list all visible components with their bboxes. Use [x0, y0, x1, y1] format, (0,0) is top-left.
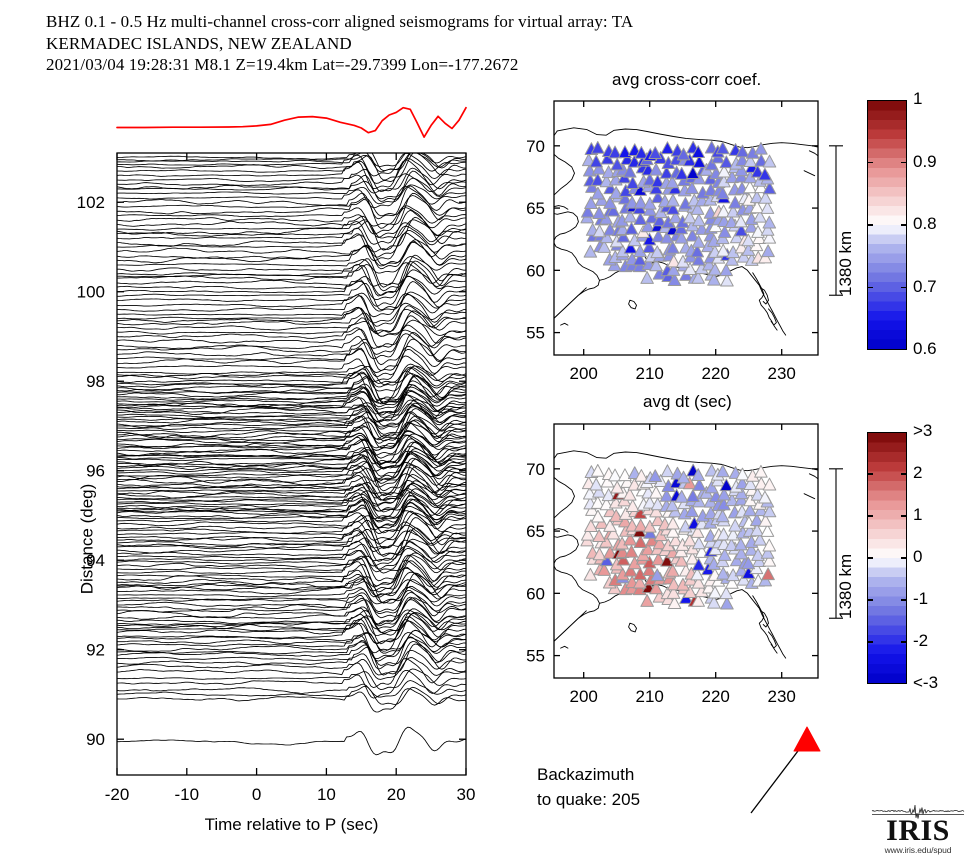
svg-text:60: 60 [526, 261, 545, 280]
colorbar-tick-label: 1 [913, 505, 922, 525]
svg-text:65: 65 [526, 522, 545, 541]
backazimuth-label-line1: Backazimuth [537, 762, 640, 787]
colorbar-tick-mark [867, 515, 873, 516]
colorbar-tick-label: 2 [913, 463, 922, 483]
colorbar-tick-label: -2 [913, 631, 928, 651]
colorbar-tick-label: -1 [913, 589, 928, 609]
svg-text:210: 210 [636, 364, 664, 383]
colorbar-tick-mark [901, 287, 907, 288]
map-bottom-plot: 20021022023055606570 [520, 413, 870, 703]
colorbar-tick-mark [901, 599, 907, 600]
iris-logo: IRIS www.iris.edu/spud [872, 800, 964, 858]
colorbar-tick-label: >3 [913, 421, 932, 441]
record-section-panel: -20-1001020309092949698100102 [0, 0, 500, 800]
colorbar-tick-mark [901, 473, 907, 474]
map-top-title: avg cross-corr coef. [612, 70, 761, 90]
colorbar-tick-mark [901, 224, 907, 225]
svg-text:100: 100 [77, 283, 105, 302]
svg-text:220: 220 [702, 364, 730, 383]
svg-text:10: 10 [317, 785, 336, 804]
svg-text:200: 200 [570, 687, 598, 706]
colorbar-tick-label: 0.9 [913, 152, 937, 172]
colorbar-tick-mark [867, 162, 873, 163]
colorbar-tick-mark [867, 287, 873, 288]
backazimuth-arrow [745, 725, 835, 820]
iris-logo-url: www.iris.edu/spud [872, 845, 964, 855]
svg-text:230: 230 [768, 687, 796, 706]
record-section-xlabel: Time relative to P (sec) [192, 815, 392, 835]
svg-text:92: 92 [86, 641, 105, 660]
record-section-ylabel: Distance (deg) [77, 484, 97, 595]
colorbar-tick-mark [901, 162, 907, 163]
svg-text:102: 102 [77, 193, 105, 212]
svg-text:-10: -10 [175, 785, 200, 804]
colorbar-tick-mark [867, 641, 873, 642]
colorbar-tick-label: 0 [913, 547, 922, 567]
colorbar-cross-corr: 10.90.80.70.6 [867, 100, 971, 350]
colorbar-tick-label: 0.8 [913, 214, 937, 234]
backazimuth-label-line2: to quake: 205 [537, 787, 640, 812]
svg-text:20: 20 [387, 785, 406, 804]
svg-text:70: 70 [526, 137, 545, 156]
svg-text:90: 90 [86, 730, 105, 749]
iris-logo-word: IRIS [872, 816, 964, 846]
map-bottom-panel: 20021022023055606570 [520, 413, 870, 703]
colorbar-tick-mark [901, 641, 907, 642]
map-top-scalebar-label: 1380 km [836, 231, 856, 296]
colorbar-tick-mark [867, 557, 873, 558]
colorbar-tick-label: 1 [913, 89, 922, 109]
svg-text:200: 200 [570, 364, 598, 383]
svg-text:65: 65 [526, 199, 545, 218]
colorbar-tick-mark [867, 473, 873, 474]
svg-text:210: 210 [636, 687, 664, 706]
colorbar-avg-dt: >3210-1-2<-3 [867, 432, 971, 684]
colorbar-tick-mark [867, 224, 873, 225]
colorbar-tick-mark [867, 599, 873, 600]
svg-text:-20: -20 [105, 785, 130, 804]
svg-text:30: 30 [457, 785, 476, 804]
map-top-plot: 20021022023055606570 [520, 90, 870, 380]
colorbar-tick-mark [901, 515, 907, 516]
colorbar-tick-mark [901, 557, 907, 558]
backazimuth-label: Backazimuth to quake: 205 [537, 762, 640, 812]
map-top-panel: 20021022023055606570 [520, 90, 870, 380]
map-bottom-title: avg dt (sec) [643, 392, 732, 412]
record-section-plot: -20-1001020309092949698100102 [0, 0, 500, 800]
svg-text:230: 230 [768, 364, 796, 383]
svg-text:98: 98 [86, 372, 105, 391]
svg-text:96: 96 [86, 462, 105, 481]
svg-text:0: 0 [252, 785, 261, 804]
svg-text:55: 55 [526, 647, 545, 666]
svg-text:55: 55 [526, 324, 545, 343]
colorbar-tick-label: <-3 [913, 673, 938, 693]
svg-text:60: 60 [526, 584, 545, 603]
map-bottom-scalebar-label: 1380 km [836, 554, 856, 619]
svg-text:70: 70 [526, 460, 545, 479]
svg-text:220: 220 [702, 687, 730, 706]
colorbar-tick-label: 0.6 [913, 339, 937, 359]
colorbar-tick-label: 0.7 [913, 277, 937, 297]
